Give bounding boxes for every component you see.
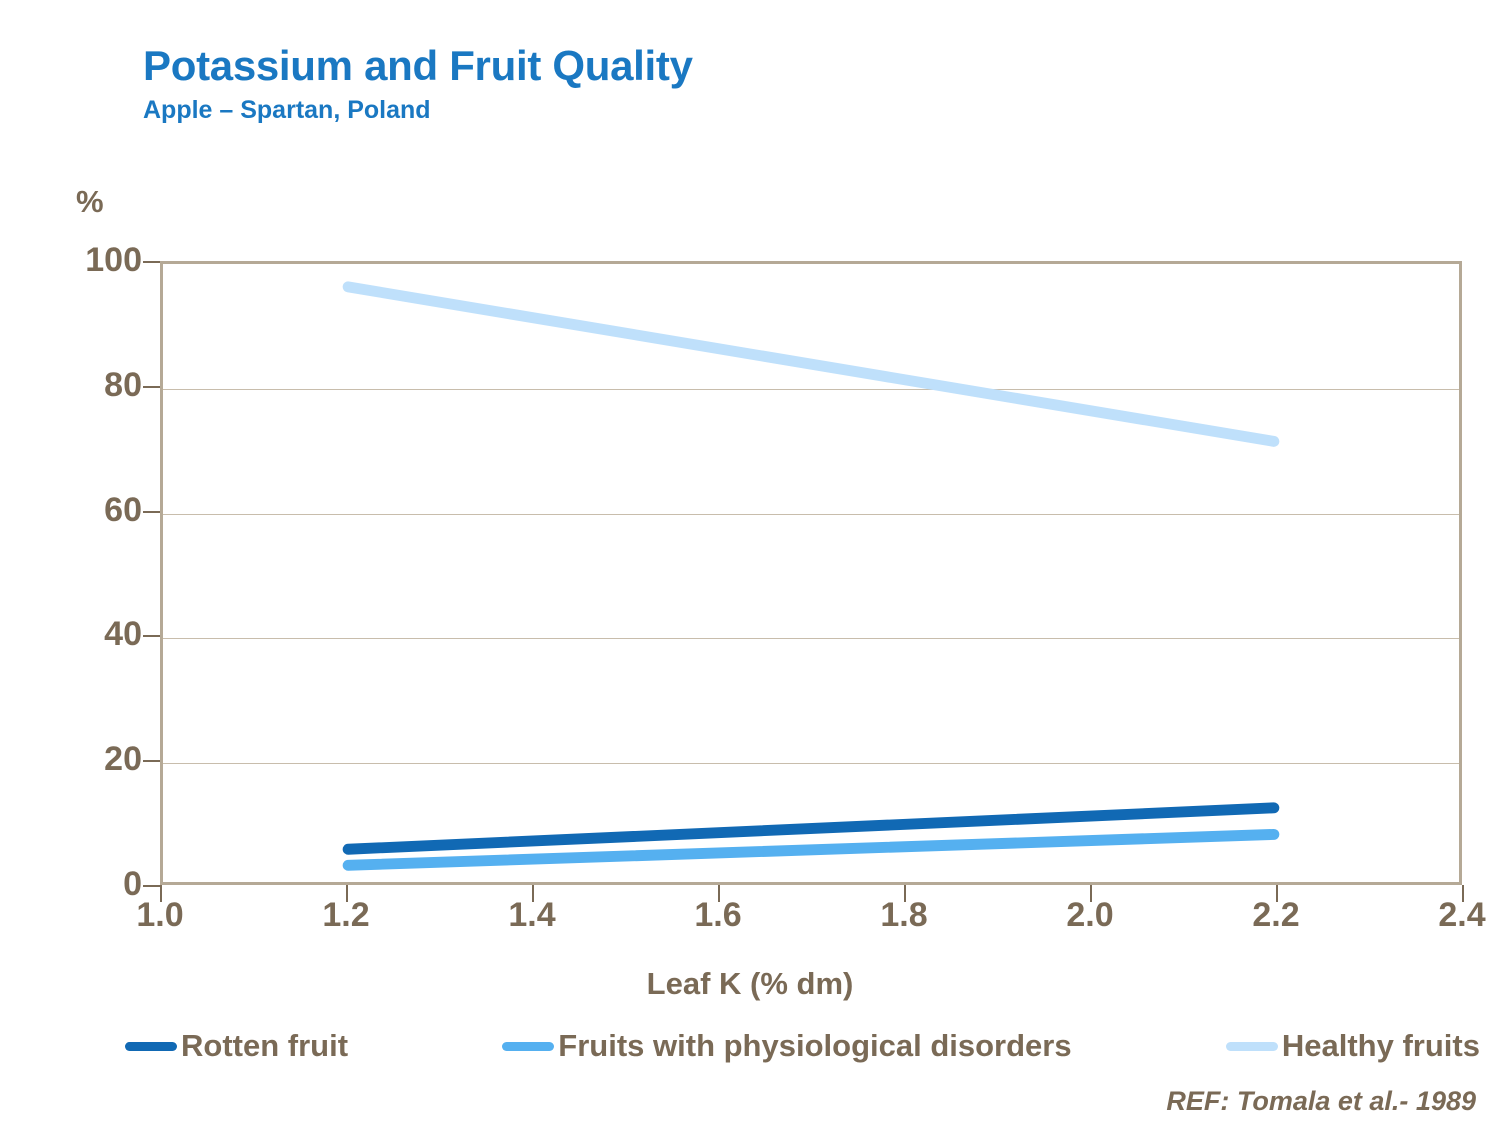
y-tick-mark (143, 261, 161, 263)
y-tick-mark (143, 386, 161, 388)
x-tick-label: 1.6 (658, 898, 778, 932)
legend-label: Healthy fruits (1282, 1028, 1480, 1064)
x-tick-mark (346, 885, 348, 902)
x-tick-label: 2.2 (1216, 898, 1336, 932)
y-axis-unit-label: % (76, 184, 104, 220)
series-line (348, 287, 1274, 442)
reference-citation: REF: Tomala et al.- 1989 (1166, 1086, 1476, 1117)
chart-legend: Rotten fruit Fruits with physiological d… (125, 1028, 1480, 1064)
legend-item-rotten-fruit[interactable]: Rotten fruit (125, 1028, 348, 1064)
x-tick-label: 2.4 (1402, 898, 1500, 932)
y-tick-mark (143, 760, 161, 762)
y-tick-label: 80 (22, 368, 142, 402)
title-block: Potassium and Fruit Quality Apple – Spar… (143, 44, 693, 125)
x-axis-title: Leaf K (% dm) (0, 966, 1500, 1002)
y-tick-mark (143, 511, 161, 513)
x-tick-label: 1.0 (100, 898, 220, 932)
y-tick-mark (143, 885, 161, 887)
legend-item-healthy-fruits[interactable]: Healthy fruits (1226, 1028, 1480, 1064)
page-title: Potassium and Fruit Quality (143, 44, 693, 88)
y-tick-label: 20 (22, 742, 142, 776)
x-tick-label: 2.0 (1030, 898, 1150, 932)
y-tick-label: 40 (22, 617, 142, 651)
legend-item-physiological-disorders[interactable]: Fruits with physiological disorders (502, 1028, 1071, 1064)
y-tick-label: 100 (22, 243, 142, 277)
page-subtitle: Apple – Spartan, Poland (143, 96, 693, 125)
legend-label: Fruits with physiological disorders (558, 1028, 1071, 1064)
x-tick-mark (904, 885, 906, 902)
x-tick-mark (718, 885, 720, 902)
legend-swatch-icon (502, 1042, 554, 1051)
x-tick-mark (1462, 885, 1464, 902)
plot-area (160, 261, 1462, 885)
x-tick-mark (1276, 885, 1278, 902)
y-tick-label: 60 (22, 493, 142, 527)
x-tick-mark (1090, 885, 1092, 902)
x-tick-label: 1.4 (472, 898, 592, 932)
x-tick-mark (160, 885, 162, 902)
x-tick-label: 1.8 (844, 898, 964, 932)
y-tick-label: 0 (22, 867, 142, 901)
x-tick-mark (532, 885, 534, 902)
x-tick-label: 1.2 (286, 898, 406, 932)
legend-label: Rotten fruit (181, 1028, 348, 1064)
legend-swatch-icon (125, 1042, 177, 1051)
legend-swatch-icon (1226, 1042, 1278, 1051)
y-tick-mark (143, 635, 161, 637)
series-lines (163, 264, 1459, 882)
